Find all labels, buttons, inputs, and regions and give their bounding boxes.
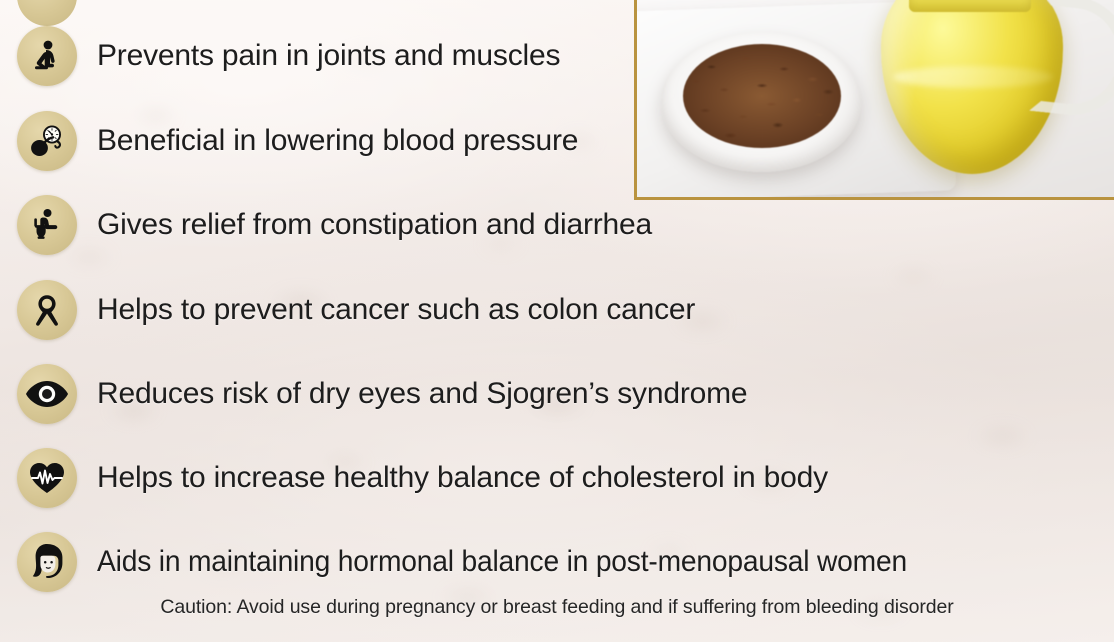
benefit-row-6: Helps to increase healthy balance of cho…	[17, 448, 828, 508]
benefit-row-7: Aids in maintaining hormonal balance in …	[17, 532, 959, 592]
benefit-text-4: Helps to prevent cancer such as colon ca…	[97, 295, 695, 325]
flaxseed-oil-photo	[634, 0, 1114, 200]
benefit-row-3: Gives relief from constipation and diarr…	[17, 195, 652, 255]
benefit-text-6: Helps to increase healthy balance of cho…	[97, 463, 828, 493]
benefit-text-1: Prevents pain in joints and muscles	[97, 41, 560, 71]
blood-pressure-monitor-icon	[17, 111, 77, 171]
awareness-ribbon-icon	[17, 280, 77, 340]
photo-inner	[637, 0, 1114, 197]
benefit-text-7: Aids in maintaining hormonal balance in …	[97, 547, 907, 577]
benefit-text-3: Gives relief from constipation and diarr…	[97, 210, 652, 240]
flaxseed-benefits-infographic: Prevents pain in joints and muscles	[0, 0, 1114, 642]
photo-softening-layer	[637, 0, 1114, 197]
caution-note: Caution: Avoid use during pregnancy or b…	[0, 596, 1114, 619]
eye-icon	[17, 364, 77, 424]
benefit-text-2: Beneficial in lowering blood pressure	[97, 126, 578, 156]
benefit-row-1: Prevents pain in joints and muscles	[17, 26, 560, 86]
person-on-toilet-icon	[17, 195, 77, 255]
woman-head-icon	[17, 532, 77, 592]
kneeling-person-joint-pain-icon	[17, 26, 77, 86]
heart-ecg-icon	[17, 448, 77, 508]
benefit-row-2: Beneficial in lowering blood pressure	[17, 111, 578, 171]
benefit-text-5: Reduces risk of dry eyes and Sjogren’s s…	[97, 379, 747, 409]
benefit-row-5: Reduces risk of dry eyes and Sjogren’s s…	[17, 364, 747, 424]
benefit-row-4: Helps to prevent cancer such as colon ca…	[17, 280, 695, 340]
